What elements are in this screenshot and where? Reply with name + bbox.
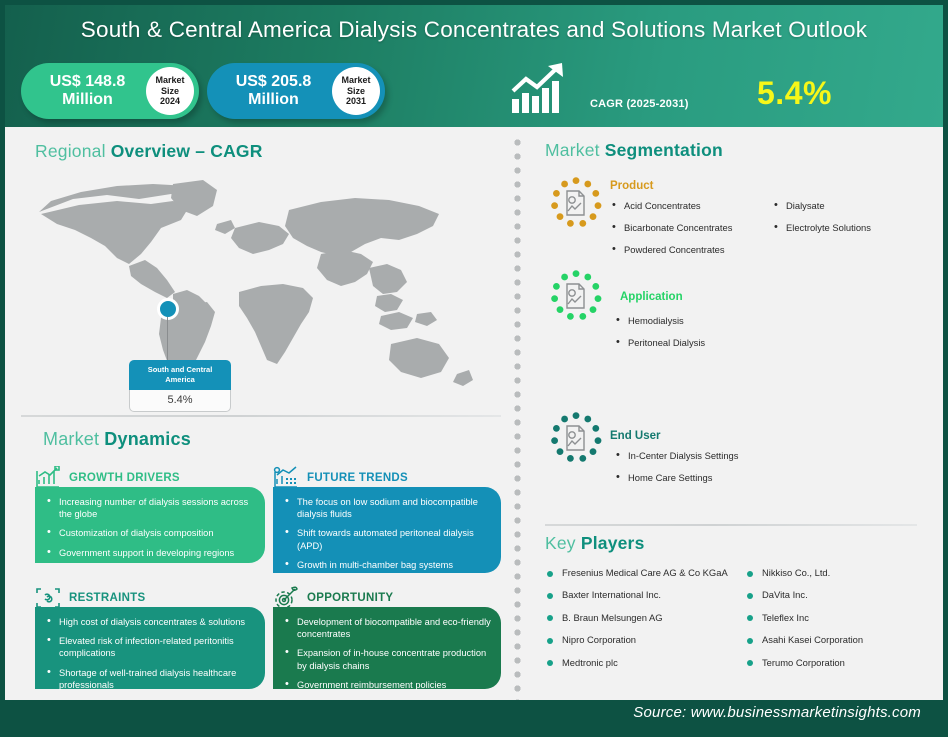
map-callout-stem	[167, 317, 168, 362]
future-trends-card: The focus on low sodium and biocompatibl…	[273, 487, 501, 573]
growth-bar-chart-arrow-icon	[510, 63, 574, 115]
list-item: Fresenius Medical Care AG & Co KGaA	[545, 567, 745, 579]
divider-regional-dynamics	[21, 415, 501, 417]
end-user-document-chart-ring-icon	[550, 412, 602, 464]
badge-line-2: Size	[161, 86, 179, 97]
footer-bar: Source: www.businessmarketinsights.com	[5, 700, 943, 732]
key-players-heading-light: Key	[545, 533, 576, 553]
key-players-heading-bold: Players	[581, 533, 645, 553]
list-item: Growth in multi-chamber bag systems	[281, 559, 491, 571]
header-banner: South & Central America Dialysis Concent…	[5, 5, 943, 127]
growth-drivers-card: Increasing number of dialysis sessions a…	[35, 487, 265, 563]
list-item: Elevated risk of infection-related perit…	[43, 635, 255, 659]
application-label: Application	[620, 291, 705, 303]
cagr-label: CAGR (2025-2031)	[590, 98, 689, 110]
infographic-page: South & Central America Dialysis Concent…	[0, 0, 948, 737]
world-map-svg	[21, 168, 501, 413]
list-item: Baxter International Inc.	[545, 589, 745, 601]
market-size-2031-badge: Market Size 2031	[332, 67, 380, 115]
list-item: The focus on low sodium and biocompatibl…	[281, 496, 491, 520]
restraints-card: High cost of dialysis concentrates & sol…	[35, 607, 265, 689]
badge-year: 2031	[346, 96, 366, 107]
badge-line-1: Market	[155, 75, 184, 86]
product-label: Product	[610, 180, 871, 192]
list-item: Shortage of well-trained dialysis health…	[43, 667, 255, 691]
list-item: B. Braun Melsungen AG	[545, 612, 745, 624]
product-list-col2: Dialysate Electrolyte Solutions	[772, 200, 871, 266]
key-players-list-2: Nikkiso Co., Ltd. DaVita Inc. Teleflex I…	[745, 567, 945, 669]
restraints-list: High cost of dialysis concentrates & sol…	[43, 616, 255, 691]
list-item: Expansion of in-house concentrate produc…	[281, 647, 491, 671]
list-item: Government support in developing regions	[43, 547, 255, 559]
list-item: Hemodialysis	[614, 315, 705, 327]
opportunity-list: Development of biocompatible and eco-fri…	[281, 616, 491, 691]
list-item: In-Center Dialysis Settings	[614, 450, 738, 462]
source-text: Source: www.businessmarketinsights.com	[633, 704, 921, 721]
list-item: Customization of dialysis composition	[43, 527, 255, 539]
key-players-col1: Fresenius Medical Care AG & Co KGaA Baxt…	[545, 567, 745, 679]
segmentation-group-product: Product Acid Concentrates Bicarbonate Co…	[610, 180, 871, 266]
opportunity-card: Development of biocompatible and eco-fri…	[273, 607, 501, 689]
badge-line-1: Market	[341, 75, 370, 86]
market-size-2024-pill: US$ 148.8 Million Market Size 2024	[21, 63, 199, 119]
divider-segmentation-keyplayers	[545, 524, 917, 526]
key-players-columns: Fresenius Medical Care AG & Co KGaA Baxt…	[545, 567, 945, 679]
list-item: Nipro Corporation	[545, 634, 745, 646]
list-item: Acid Concentrates	[610, 200, 772, 212]
page-title: South & Central America Dialysis Concent…	[5, 17, 943, 43]
market-size-2031-amount: US$ 205.8	[236, 73, 312, 90]
future-trends-label: FUTURE TRENDS	[307, 472, 408, 484]
key-players-heading: Key Players	[545, 533, 645, 554]
segmentation-group-application: Application Hemodialysis Peritoneal Dial…	[620, 291, 705, 359]
list-item: Increasing number of dialysis sessions a…	[43, 496, 255, 520]
regional-overview-heading: Regional Overview – CAGR	[35, 141, 263, 162]
key-players-col2: Nikkiso Co., Ltd. DaVita Inc. Teleflex I…	[745, 567, 945, 679]
market-segmentation-heading: Market Segmentation	[545, 140, 723, 161]
list-item: Dialysate	[772, 200, 871, 212]
growth-drivers-list: Increasing number of dialysis sessions a…	[43, 496, 255, 559]
regional-heading-bold: Overview – CAGR	[111, 141, 263, 161]
map-callout-cagr: 5.4%	[129, 390, 231, 412]
application-list: Hemodialysis Peritoneal Dialysis	[614, 315, 705, 349]
market-size-2024-unit: Million	[62, 91, 113, 108]
list-item: Nikkiso Co., Ltd.	[745, 567, 945, 579]
market-size-2031-unit: Million	[248, 91, 299, 108]
badge-line-2: Size	[347, 86, 365, 97]
dynamics-heading-bold: Dynamics	[104, 429, 191, 449]
application-document-chart-ring-icon	[550, 270, 602, 322]
cagr-value: 5.4%	[757, 75, 832, 112]
market-size-2024-amount: US$ 148.8	[50, 73, 126, 90]
world-map	[21, 168, 501, 413]
list-item: Medtronic plc	[545, 657, 745, 669]
end-user-list: In-Center Dialysis Settings Home Care Se…	[614, 450, 738, 484]
product-list-col1: Acid Concentrates Bicarbonate Concentrat…	[610, 200, 772, 266]
market-dynamics-heading: Market Dynamics	[43, 429, 191, 450]
product-lists: Acid Concentrates Bicarbonate Concentrat…	[610, 200, 871, 266]
list-item: Peritoneal Dialysis	[614, 337, 705, 349]
list-item: Development of biocompatible and eco-fri…	[281, 616, 491, 640]
key-players-list-1: Fresenius Medical Care AG & Co KGaA Baxt…	[545, 567, 745, 669]
segmentation-group-end-user: End User In-Center Dialysis Settings Hom…	[610, 430, 738, 494]
end-user-label: End User	[610, 430, 738, 442]
vertical-dotted-divider	[514, 139, 521, 705]
list-item: Electrolyte Solutions	[772, 222, 871, 234]
segmentation-heading-light: Market	[545, 140, 600, 160]
restraints-label: RESTRAINTS	[69, 592, 145, 604]
growth-drivers-label: GROWTH DRIVERS	[69, 472, 180, 484]
list-item: Home Care Settings	[614, 472, 738, 484]
list-item: Teleflex Inc	[745, 612, 945, 624]
list-item: Terumo Corporation	[745, 657, 945, 669]
map-callout: South and Central America 5.4%	[129, 360, 231, 412]
list-item: Shift towards automated peritoneal dialy…	[281, 527, 491, 551]
list-item: High cost of dialysis concentrates & sol…	[43, 616, 255, 628]
map-callout-region: South and Central America	[129, 360, 231, 390]
product-document-chart-ring-icon	[550, 177, 602, 229]
list-item: Government reimbursement policies	[281, 679, 491, 691]
regional-heading-light: Regional	[35, 141, 106, 161]
market-size-2031-pill: US$ 205.8 Million Market Size 2031	[207, 63, 385, 119]
market-size-2031-value: US$ 205.8 Million	[207, 73, 332, 109]
market-size-2024-badge: Market Size 2024	[146, 67, 194, 115]
dynamics-heading-light: Market	[43, 429, 99, 449]
badge-year: 2024	[160, 96, 180, 107]
future-trends-list: The focus on low sodium and biocompatibl…	[281, 496, 491, 571]
segmentation-heading-bold: Segmentation	[605, 140, 723, 160]
list-item: Bicarbonate Concentrates	[610, 222, 772, 234]
market-size-2024-value: US$ 148.8 Million	[21, 73, 146, 109]
opportunity-label: OPPORTUNITY	[307, 592, 393, 604]
list-item: Asahi Kasei Corporation	[745, 634, 945, 646]
list-item: Powdered Concentrates	[610, 244, 772, 256]
list-item: DaVita Inc.	[745, 589, 945, 601]
